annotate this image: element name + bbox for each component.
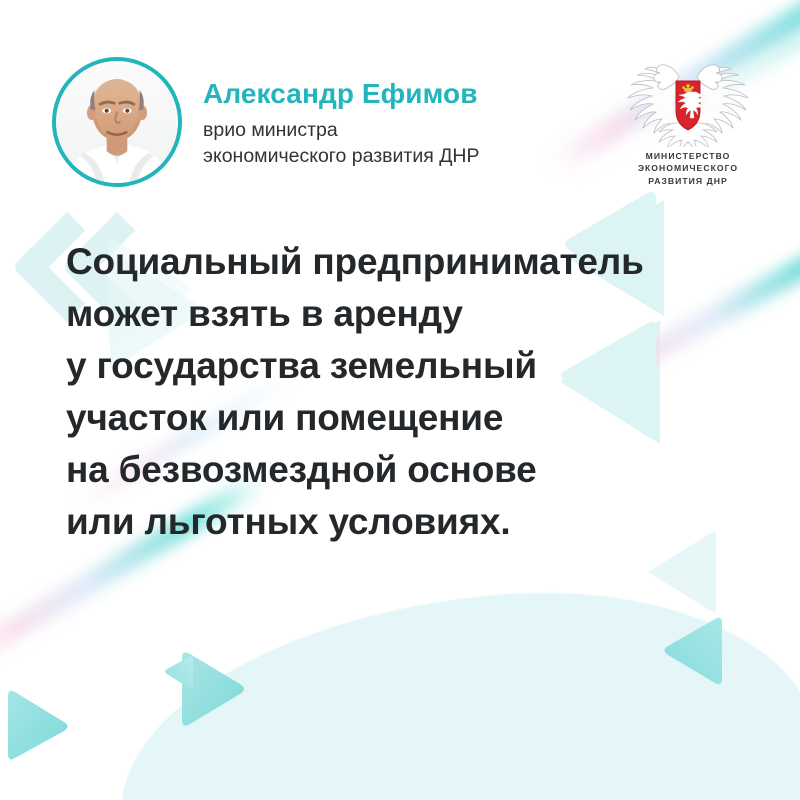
headline-line-6: или льготных условиях.	[66, 496, 766, 548]
play-triangle-right-icon	[170, 648, 250, 730]
person-role-line-2: экономического развития ДНР	[203, 143, 480, 169]
headline-block: Социальный предприниматель может взять в…	[66, 236, 766, 548]
headline-line-3: у государства земельный	[66, 340, 766, 392]
play-triangle-left-icon-small	[162, 654, 198, 692]
card-header: Александр Ефимов врио министра экономиче…	[0, 0, 800, 200]
headline-line-4: участок или помещение	[66, 392, 766, 444]
person-info: Александр Ефимов врио министра экономиче…	[203, 78, 480, 170]
ministry-line-3: РАЗВИТИЯ ДНР	[608, 175, 768, 187]
ministry-line-1: МИНИСТЕРСТВО	[608, 150, 768, 162]
social-media-card: Александр Ефимов врио министра экономиче…	[0, 0, 800, 800]
headline-line-2: может взять в аренду	[66, 288, 766, 340]
avatar	[52, 57, 182, 187]
play-triangle-left-icon	[660, 615, 730, 689]
person-name: Александр Ефимов	[203, 78, 480, 109]
ministry-line-2: ЭКОНОМИЧЕСКОГО	[608, 162, 768, 174]
headline-line-1: Социальный предприниматель	[66, 236, 766, 288]
ministry-logo: МИНИСТЕРСТВО ЭКОНОМИЧЕСКОГО РАЗВИТИЯ ДНР	[608, 55, 768, 187]
person-role-line-1: врио министра	[203, 117, 480, 143]
headline-line-5: на безвозмездной основе	[66, 444, 766, 496]
play-triangle-right-icon	[0, 688, 74, 766]
organic-blob-shape-secondary	[330, 735, 800, 800]
ministry-name-text: МИНИСТЕРСТВО ЭКОНОМИЧЕСКОГО РАЗВИТИЯ ДНР	[608, 150, 768, 187]
organic-blob-shape	[105, 568, 800, 800]
dnr-double-headed-eagle-emblem	[613, 55, 763, 147]
